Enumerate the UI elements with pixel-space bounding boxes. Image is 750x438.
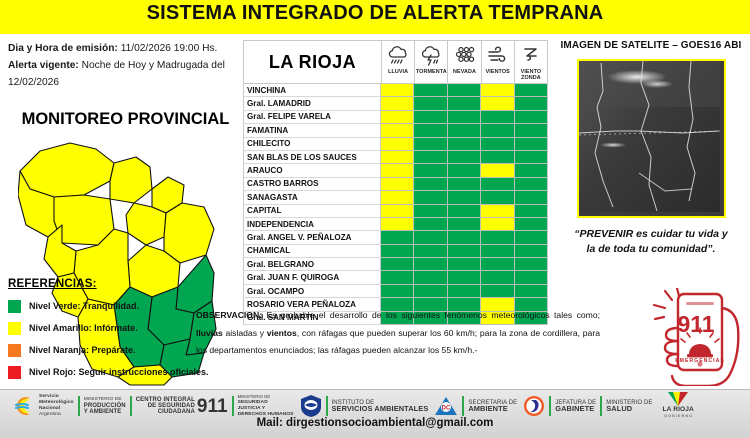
column-header-nevada: NEVADA: [448, 41, 481, 83]
logo-divider: [232, 396, 234, 416]
alert-cell-tormenta: [414, 111, 447, 124]
alert-cell-nevada: [448, 84, 481, 97]
alert-cell-vientos: [481, 205, 514, 218]
alert-cell-vientos: [481, 138, 514, 151]
monitoring-title: MONITOREO PROVINCIAL: [18, 110, 233, 129]
column-header-lluvia: LLUVIA: [382, 41, 415, 83]
snow-icon: [453, 43, 477, 69]
shield-icon: [300, 394, 322, 418]
table-row: CASTRO BARROS: [243, 178, 548, 191]
logo-line: Y AMBIENTE: [84, 409, 126, 415]
alert-cell-lluvia: [381, 111, 414, 124]
logo-divider: [130, 396, 132, 416]
department-name: VINCHINA: [243, 84, 381, 97]
storm-icon: [419, 43, 443, 69]
orange-swatch-icon: [8, 344, 21, 357]
logo-divider: [549, 396, 551, 416]
reference-item-yellow: Nivel Amarillo: Infórmate.: [8, 317, 223, 339]
department-name: FAMATINA: [243, 124, 381, 137]
department-name: Gral. OCAMPO: [243, 285, 381, 298]
department-name: CHILECITO: [243, 138, 381, 151]
alert-cell-tormenta: [414, 258, 447, 271]
table-row: CHAMICAL: [243, 245, 548, 258]
alert-cell-tormenta: [414, 138, 447, 151]
table-row: VINCHINA: [243, 84, 548, 97]
gabinete-icon: [523, 395, 545, 417]
alert-cell-viento-zonda: [515, 285, 548, 298]
table-row: ARAUCO: [243, 164, 548, 177]
references-title: REFERENCIAS:: [8, 278, 223, 290]
alert-cell-vientos: [481, 97, 514, 110]
alert-cell-nevada: [448, 258, 481, 271]
green-swatch-icon: [8, 300, 21, 313]
table-row: SAN BLAS DE LOS SAUCES: [243, 151, 548, 164]
department-name: Gral. ANGEL V. PEÑALOZA: [243, 231, 381, 244]
yellow-swatch-icon: [8, 322, 21, 335]
observation-text: OBSERVACION: Es probable el desarrollo d…: [196, 307, 600, 360]
alert-cell-viento-zonda: [515, 258, 548, 271]
logo-line: CENTRO INTEGRAL: [136, 397, 195, 403]
911-phone-hand-icon: 911 EMERGENCIAS: [652, 288, 744, 386]
alert-cell-viento-zonda: [515, 97, 548, 110]
alert-cell-viento-zonda: [515, 205, 548, 218]
alert-cell-nevada: [448, 124, 481, 137]
table-row: SANAGASTA: [243, 191, 548, 204]
alert-cell-lluvia: [381, 178, 414, 191]
alert-cell-vientos: [481, 218, 514, 231]
alert-cell-vientos: [481, 164, 514, 177]
alert-cell-lluvia: [381, 258, 414, 271]
alert-cell-viento-zonda: [515, 111, 548, 124]
logo-line: CIUDADANA: [136, 409, 195, 415]
alert-cell-vientos: [481, 231, 514, 244]
logo-divider: [600, 396, 602, 416]
column-label: VIENTOS: [486, 69, 510, 75]
references-legend: REFERENCIAS: Nivel Verde: Tranquilidad. …: [8, 278, 223, 383]
reference-item-orange: Nivel Naranja: Prepárate.: [8, 339, 223, 361]
contact-mail: Mail: dirgestionsocioambiental@gmail.com: [0, 417, 750, 429]
table-row: Gral. OCAMPO: [243, 285, 548, 298]
column-header-tormenta: TORMENTA: [415, 41, 448, 83]
alert-cell-nevada: [448, 231, 481, 244]
alert-cell-viento-zonda: [515, 231, 548, 244]
satellite-quote: “PREVENIR es cuidar tu vida y la de toda…: [556, 227, 746, 257]
alert-table: LA RIOJA LLUVIA TORMENTA: [243, 40, 548, 325]
table-row: CHILECITO: [243, 138, 548, 151]
province-name-header: LA RIOJA: [244, 41, 382, 83]
emission-datetime-value: 11/02/2026 19:00 Hs.: [121, 43, 218, 54]
department-name: INDEPENDENCIA: [243, 218, 381, 231]
alert-validity-line: Alerta vigente: Noche de Hoy y Madrugada…: [8, 57, 236, 74]
satellite-title: IMAGEN DE SATELITE – GOES16 ABI: [556, 40, 746, 51]
alert-cell-viento-zonda: [515, 164, 548, 177]
emergency-911-badge: 911 EMERGENCIAS: [652, 288, 744, 386]
table-header-row: LA RIOJA LLUVIA TORMENTA: [243, 40, 548, 84]
alert-cell-vientos: [481, 191, 514, 204]
logo-911-number: 911: [197, 397, 228, 416]
defensa-civil-icon: DC: [434, 395, 458, 417]
table-row: FAMATINA: [243, 124, 548, 137]
table-row: Gral. ANGEL V. PEÑALOZA: [243, 231, 548, 244]
alert-cell-lluvia: [381, 151, 414, 164]
alert-cell-tormenta: [414, 285, 447, 298]
alert-cell-nevada: [448, 218, 481, 231]
alert-cell-tormenta: [414, 151, 447, 164]
alert-cell-vientos: [481, 285, 514, 298]
alert-cell-viento-zonda: [515, 138, 548, 151]
alert-cell-viento-zonda: [515, 178, 548, 191]
reference-label: Nivel Amarillo: Infórmate.: [29, 323, 138, 333]
alert-cell-tormenta: [414, 205, 447, 218]
column-header-vientos: VIENTOS: [482, 41, 515, 83]
alert-cell-viento-zonda: [515, 84, 548, 97]
alert-cell-lluvia: [381, 245, 414, 258]
title-underline: [0, 30, 750, 34]
alert-cell-vientos: [481, 178, 514, 191]
emission-datetime-line: Dia y Hora de emisión: 11/02/2026 19:00 …: [8, 40, 236, 57]
alert-cell-viento-zonda: [515, 151, 548, 164]
department-name: Gral. BELGRANO: [243, 258, 381, 271]
logo-line: SERVICIOS AMBIENTALES: [332, 406, 429, 412]
alert-cell-nevada: [448, 205, 481, 218]
alert-cell-nevada: [448, 164, 481, 177]
alert-cell-tormenta: [414, 231, 447, 244]
observation-bold-vientos: vientos: [267, 328, 297, 338]
alert-cell-lluvia: [381, 205, 414, 218]
reference-label: Nivel Naranja: Prepárate.: [29, 345, 136, 355]
alert-cell-nevada: [448, 178, 481, 191]
satellite-quote-line1: “PREVENIR es cuidar tu vida y: [560, 227, 742, 242]
page-title: SISTEMA INTEGRADO DE ALERTA TEMPRANA: [0, 2, 750, 25]
department-name: CAPITAL: [243, 205, 381, 218]
alert-cell-lluvia: [381, 271, 414, 284]
alert-cell-viento-zonda: [515, 191, 548, 204]
alert-cell-tormenta: [414, 218, 447, 231]
alert-cell-tormenta: [414, 271, 447, 284]
satellite-quote-line2: la de toda tu comunidad”.: [560, 242, 742, 257]
alert-cell-vientos: [481, 271, 514, 284]
column-header-viento-zonda: VIENTO ZONDA: [515, 41, 547, 83]
logo-divider: [78, 396, 80, 416]
department-name: CASTRO BARROS: [243, 178, 381, 191]
department-name: Gral. JUAN F. QUIROGA: [243, 271, 381, 284]
satellite-panel: IMAGEN DE SATELITE – GOES16 ABI: [556, 40, 746, 257]
column-label: TORMENTA: [416, 69, 447, 75]
alert-cell-viento-zonda: [515, 218, 548, 231]
logo-line: MINISTERIO DE: [84, 397, 126, 403]
zonda-icon: [519, 43, 543, 69]
table-row: INDEPENDENCIA: [243, 218, 548, 231]
column-label: VIENTO ZONDA: [515, 69, 547, 82]
alert-cell-viento-zonda: [515, 245, 548, 258]
smn-icon: [10, 394, 36, 418]
alert-cell-nevada: [448, 245, 481, 258]
department-name: ARAUCO: [243, 164, 381, 177]
alert-cell-vientos: [481, 124, 514, 137]
alert-cell-lluvia: [381, 138, 414, 151]
alert-cell-nevada: [448, 271, 481, 284]
red-swatch-icon: [8, 366, 21, 379]
table-row: Gral. JUAN F. QUIROGA: [243, 271, 548, 284]
911-number: 911: [677, 311, 714, 337]
alert-cell-vientos: [481, 111, 514, 124]
observation-bold-lluvias: lluvias: [196, 328, 223, 338]
observation-part-a: Es probable el desarrollo de los siguien…: [262, 310, 600, 320]
svg-text:DC: DC: [442, 406, 451, 412]
alert-cell-tormenta: [414, 97, 447, 110]
alert-cell-nevada: [448, 138, 481, 151]
alert-cell-tormenta: [414, 245, 447, 258]
alert-cell-lluvia: [381, 124, 414, 137]
map-dept-gral-lamadrid: [110, 157, 152, 203]
map-dept-vinchina: [20, 143, 114, 197]
alert-cell-tormenta: [414, 84, 447, 97]
observation-part-c: aisladas y: [223, 328, 267, 338]
column-label: NEVADA: [453, 69, 476, 75]
alert-cell-nevada: [448, 97, 481, 110]
observation-label: OBSERVACION:: [196, 310, 262, 320]
logo-line: AMBIENTE: [468, 406, 517, 412]
alert-cell-vientos: [481, 258, 514, 271]
reference-item-red: Nivel Rojo: Seguir instrucciones oficial…: [8, 361, 223, 383]
logo-divider: [326, 396, 328, 416]
alert-cell-tormenta: [414, 191, 447, 204]
alert-validity-date2: 12/02/2026: [8, 74, 236, 91]
alert-cell-lluvia: [381, 97, 414, 110]
911-caption: EMERGENCIAS: [675, 358, 725, 364]
satellite-image-svg: [579, 61, 720, 212]
alert-cell-nevada: [448, 111, 481, 124]
table-body: VINCHINAGral. LAMADRIDGral. FELIPE VAREL…: [243, 84, 548, 325]
reference-label: Nivel Rojo: Seguir instrucciones oficial…: [29, 367, 209, 377]
department-name: CHAMICAL: [243, 245, 381, 258]
alert-cell-vientos: [481, 151, 514, 164]
alert-cell-vientos: [481, 245, 514, 258]
alert-cell-nevada: [448, 285, 481, 298]
column-label: LLUVIA: [388, 69, 408, 75]
logo-divider: [462, 396, 464, 416]
emission-info: Dia y Hora de emisión: 11/02/2026 19:00 …: [8, 40, 236, 91]
alert-cell-lluvia: [381, 231, 414, 244]
alert-cell-viento-zonda: [515, 271, 548, 284]
alert-cell-nevada: [448, 191, 481, 204]
alert-cell-tormenta: [414, 164, 447, 177]
department-name: Gral. FELIPE VARELA: [243, 111, 381, 124]
emission-datetime-label: Dia y Hora de emisión:: [8, 43, 118, 54]
alert-cell-lluvia: [381, 191, 414, 204]
alert-cell-tormenta: [414, 178, 447, 191]
alert-cell-lluvia: [381, 84, 414, 97]
alert-validity-value: Noche de Hoy y Madrugada del: [82, 60, 225, 71]
reference-label: Nivel Verde: Tranquilidad.: [29, 301, 139, 311]
table-row: Gral. LAMADRID: [243, 97, 548, 110]
department-name: SANAGASTA: [243, 191, 381, 204]
alert-cell-viento-zonda: [515, 124, 548, 137]
alert-cell-lluvia: [381, 164, 414, 177]
department-name: SAN BLAS DE LOS SAUCES: [243, 151, 381, 164]
table-row: Gral. FELIPE VARELA: [243, 111, 548, 124]
title-bar: SISTEMA INTEGRADO DE ALERTA TEMPRANA: [0, 0, 750, 30]
department-name: Gral. LAMADRID: [243, 97, 381, 110]
alert-cell-vientos: [481, 84, 514, 97]
wind-icon: [486, 43, 510, 69]
alert-cell-nevada: [448, 151, 481, 164]
map-dept-arauco: [164, 203, 214, 263]
reference-item-green: Nivel Verde: Tranquilidad.: [8, 295, 223, 317]
la-rioja-emblem-icon: [666, 391, 690, 407]
alert-cell-tormenta: [414, 124, 447, 137]
alert-cell-lluvia: [381, 285, 414, 298]
satellite-image: [577, 59, 726, 218]
logo-line: GABINETE: [555, 406, 596, 412]
alert-validity-label: Alerta vigente:: [8, 60, 79, 71]
table-row: CAPITAL: [243, 205, 548, 218]
table-row: Gral. BELGRANO: [243, 258, 548, 271]
logo-line: SALUD: [606, 406, 652, 412]
alert-cell-lluvia: [381, 218, 414, 231]
rain-icon: [386, 43, 410, 69]
